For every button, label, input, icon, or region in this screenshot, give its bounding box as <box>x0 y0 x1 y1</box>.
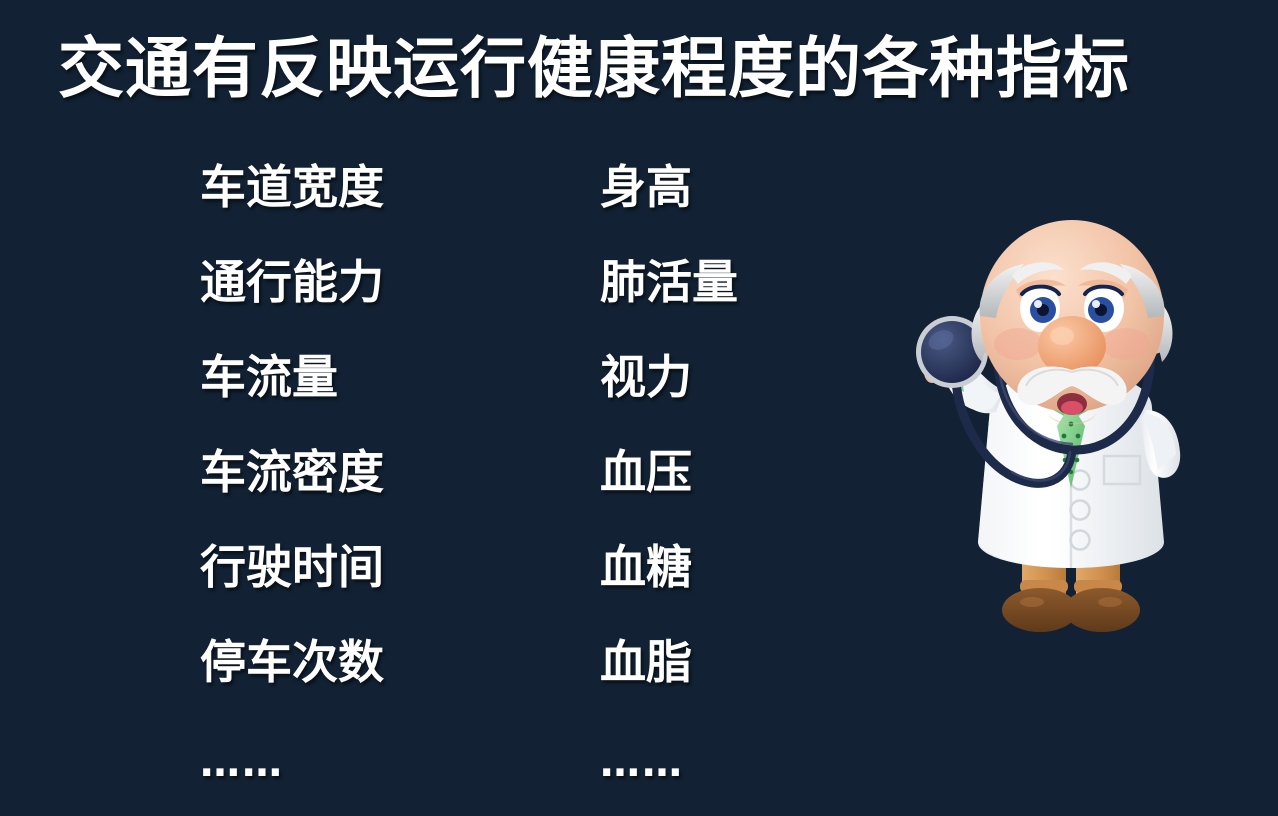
page-title: 交通有反映运行健康程度的各种指标 <box>58 34 1168 103</box>
list-item: 通行能力 <box>200 247 580 342</box>
list-item-ellipsis: …… <box>200 722 580 816</box>
list-item: 行驶时间 <box>200 532 580 627</box>
doctor-illustration <box>872 212 1272 712</box>
list-item: 停车次数 <box>200 627 580 722</box>
slide-canvas: 交通有反映运行健康程度的各种指标 车道宽度 通行能力 车流量 车流密度 行驶时间… <box>0 0 1278 816</box>
list-item-ellipsis: …… <box>600 722 980 816</box>
list-item: 车道宽度 <box>200 152 580 247</box>
list-item: 车流密度 <box>200 437 580 532</box>
traffic-metrics-column: 车道宽度 通行能力 车流量 车流密度 行驶时间 停车次数 …… <box>200 152 580 816</box>
list-item: 车流量 <box>200 342 580 437</box>
metrics-columns: 车道宽度 通行能力 车流量 车流密度 行驶时间 停车次数 …… 身高 肺活量 视… <box>0 152 860 792</box>
